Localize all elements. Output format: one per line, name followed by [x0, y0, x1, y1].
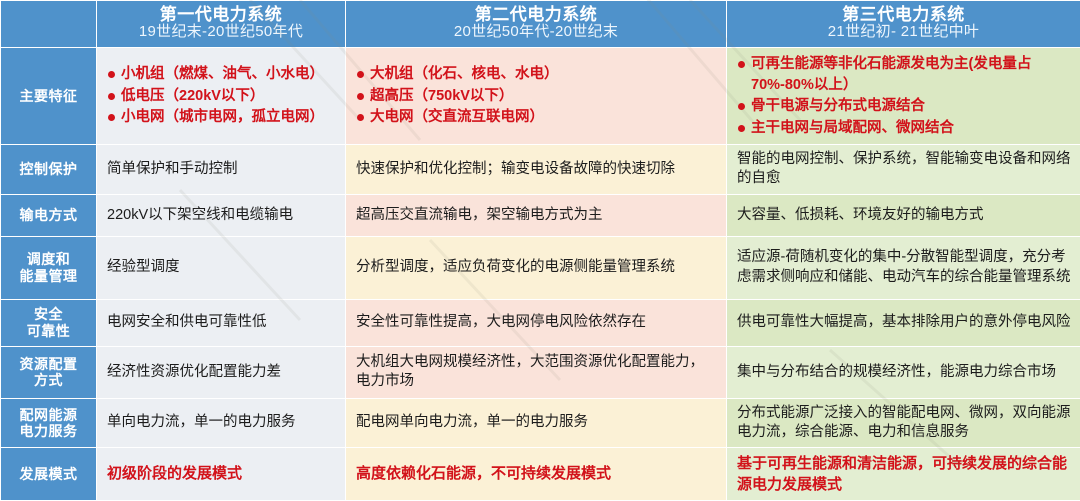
cell-control-protection-gen2: 快速保护和优化控制；输变电设备故障的快速切除: [346, 145, 727, 194]
table-header-row: 第一代电力系统 19世纪末-20世纪50年代 第二代电力系统 20世纪50年代-…: [1, 1, 1080, 48]
header-col-gen3-title: 第三代电力系统: [731, 6, 1076, 24]
row-label-main-features: 主要特征: [1, 48, 97, 145]
table-row: 资源配置 方式 经济性资源优化配置能力差 大机组大电网规模经济性，大范围资源优化…: [1, 346, 1080, 398]
list-item: 大电网（交直流互联电网）: [356, 107, 718, 128]
header-col-gen3: 第三代电力系统 21世纪初- 21世纪中叶: [727, 1, 1080, 48]
cell-distribution-energy-service-gen3: 分布式能源广泛接入的智能配电网、微网，双向能源电力流，综合能源、电力和信息服务: [727, 398, 1080, 447]
cell-distribution-energy-service-gen1: 单向电力流，单一的电力服务: [97, 398, 346, 447]
header-col-gen3-subtitle: 21世纪初- 21世纪中叶: [731, 24, 1076, 40]
row-label-line: 安全: [3, 306, 94, 322]
bullet-list: 可再生能源等非化石能源发电为主(发电量占70%-80%以上） 骨干电源与分布式电…: [737, 54, 1072, 138]
row-label-development-mode: 发展模式: [1, 447, 97, 501]
cell-dispatch-energy-management-gen2: 分析型调度，适应负荷变化的电源侧能量管理系统: [346, 236, 727, 299]
bullet-list: 大机组（化石、核电、水电） 超高压（750kV以下） 大电网（交直流互联电网）: [356, 64, 718, 128]
cell-development-mode-gen2: 高度依赖化石能源，不可持续发展模式: [346, 447, 727, 501]
cell-transmission-mode-gen2: 超高压交直流输电，架空输电方式为主: [346, 194, 727, 236]
row-label-distribution-energy-service: 配网能源 电力服务: [1, 398, 97, 447]
row-label-line: 电力服务: [3, 423, 94, 439]
cell-distribution-energy-service-gen2: 配电网单向电力流，单一的电力服务: [346, 398, 727, 447]
cell-safety-reliability-gen2: 安全性可靠性提高，大电网停电风险依然存在: [346, 299, 727, 346]
list-item: 主干电网与局域配网、微网结合: [737, 118, 1072, 139]
comparison-table-root: 第一代电力系统 19世纪末-20世纪50年代 第二代电力系统 20世纪50年代-…: [0, 0, 1080, 466]
table-row: 配网能源 电力服务 单向电力流，单一的电力服务 配电网单向电力流，单一的电力服务…: [1, 398, 1080, 447]
row-label-line: 输电方式: [3, 207, 94, 223]
row-label-transmission-mode: 输电方式: [1, 194, 97, 236]
table-row: 输电方式 220kV以下架空线和电缆输电 超高压交直流输电，架空输电方式为主 大…: [1, 194, 1080, 236]
cell-main-features-gen2: 大机组（化石、核电、水电） 超高压（750kV以下） 大电网（交直流互联电网）: [346, 48, 727, 145]
cell-development-mode-gen3: 基于可再生能源和清洁能源，可持续发展的综合能源电力发展模式: [727, 447, 1080, 501]
header-col-gen1: 第一代电力系统 19世纪末-20世纪50年代: [97, 1, 346, 48]
header-col-gen2: 第二代电力系统 20世纪50年代-20世纪末: [346, 1, 727, 48]
list-item: 可再生能源等非化石能源发电为主(发电量占70%-80%以上）: [737, 54, 1072, 95]
list-item: 低电压（220kV以下）: [107, 86, 337, 107]
table-row: 发展模式 初级阶段的发展模式 高度依赖化石能源，不可持续发展模式 基于可再生能源…: [1, 447, 1080, 501]
row-label-dispatch-energy-management: 调度和 能量管理: [1, 236, 97, 299]
list-item: 大机组（化石、核电、水电）: [356, 64, 718, 85]
row-label-resource-allocation: 资源配置 方式: [1, 346, 97, 398]
cell-dispatch-energy-management-gen3: 适应源-荷随机变化的集中-分散智能型调度，充分考虑需求侧响应和储能、电动汽车的综…: [727, 236, 1080, 299]
row-label-line: 调度和: [3, 251, 94, 267]
list-item: 超高压（750kV以下）: [356, 86, 718, 107]
row-label-line: 可靠性: [3, 323, 94, 339]
header-col-gen1-title: 第一代电力系统: [101, 6, 341, 24]
table-row: 主要特征 小机组（燃煤、油气、小水电） 低电压（220kV以下） 小电网（城市电…: [1, 48, 1080, 145]
row-label-safety-reliability: 安全 可靠性: [1, 299, 97, 346]
generation-comparison-table: 第一代电力系统 19世纪末-20世纪50年代 第二代电力系统 20世纪50年代-…: [0, 0, 1080, 501]
cell-transmission-mode-gen3: 大容量、低损耗、环境友好的输电方式: [727, 194, 1080, 236]
header-col-gen2-title: 第二代电力系统: [350, 6, 722, 24]
row-label-control-protection: 控制保护: [1, 145, 97, 194]
list-item: 小电网（城市电网，孤立电网）: [107, 107, 337, 128]
cell-safety-reliability-gen1: 电网安全和供电可靠性低: [97, 299, 346, 346]
cell-main-features-gen3: 可再生能源等非化石能源发电为主(发电量占70%-80%以上） 骨干电源与分布式电…: [727, 48, 1080, 145]
cell-transmission-mode-gen1: 220kV以下架空线和电缆输电: [97, 194, 346, 236]
cell-development-mode-gen1: 初级阶段的发展模式: [97, 447, 346, 501]
table-row: 安全 可靠性 电网安全和供电可靠性低 安全性可靠性提高，大电网停电风险依然存在 …: [1, 299, 1080, 346]
cell-main-features-gen1: 小机组（燃煤、油气、小水电） 低电压（220kV以下） 小电网（城市电网，孤立电…: [97, 48, 346, 145]
row-label-line: 发展模式: [3, 466, 94, 482]
row-label-line: 资源配置: [3, 356, 94, 372]
table-row: 控制保护 简单保护和手动控制 快速保护和优化控制；输变电设备故障的快速切除 智能…: [1, 145, 1080, 194]
table-row: 调度和 能量管理 经验型调度 分析型调度，适应负荷变化的电源侧能量管理系统 适应…: [1, 236, 1080, 299]
cell-safety-reliability-gen3: 供电可靠性大幅提高，基本排除用户的意外停电风险: [727, 299, 1080, 346]
cell-resource-allocation-gen3: 集中与分布结合的规模经济性，能源电力综合市场: [727, 346, 1080, 398]
header-corner-cell: [1, 1, 97, 48]
cell-resource-allocation-gen2: 大机组大电网规模经济性，大范围资源优化配置能力，电力市场: [346, 346, 727, 398]
header-col-gen2-subtitle: 20世纪50年代-20世纪末: [350, 24, 722, 40]
cell-control-protection-gen3: 智能的电网控制、保护系统，智能输变电设备和网络的自愈: [727, 145, 1080, 194]
row-label-line: 能量管理: [3, 268, 94, 284]
row-label-line: 主要特征: [3, 88, 94, 104]
list-item: 骨干电源与分布式电源结合: [737, 96, 1072, 117]
header-col-gen1-subtitle: 19世纪末-20世纪50年代: [101, 24, 341, 40]
bullet-list: 小机组（燃煤、油气、小水电） 低电压（220kV以下） 小电网（城市电网，孤立电…: [107, 64, 337, 128]
row-label-line: 控制保护: [3, 161, 94, 177]
row-label-line: 方式: [3, 372, 94, 388]
cell-resource-allocation-gen1: 经济性资源优化配置能力差: [97, 346, 346, 398]
row-label-line: 配网能源: [3, 407, 94, 423]
cell-dispatch-energy-management-gen1: 经验型调度: [97, 236, 346, 299]
list-item: 小机组（燃煤、油气、小水电）: [107, 64, 337, 85]
cell-control-protection-gen1: 简单保护和手动控制: [97, 145, 346, 194]
